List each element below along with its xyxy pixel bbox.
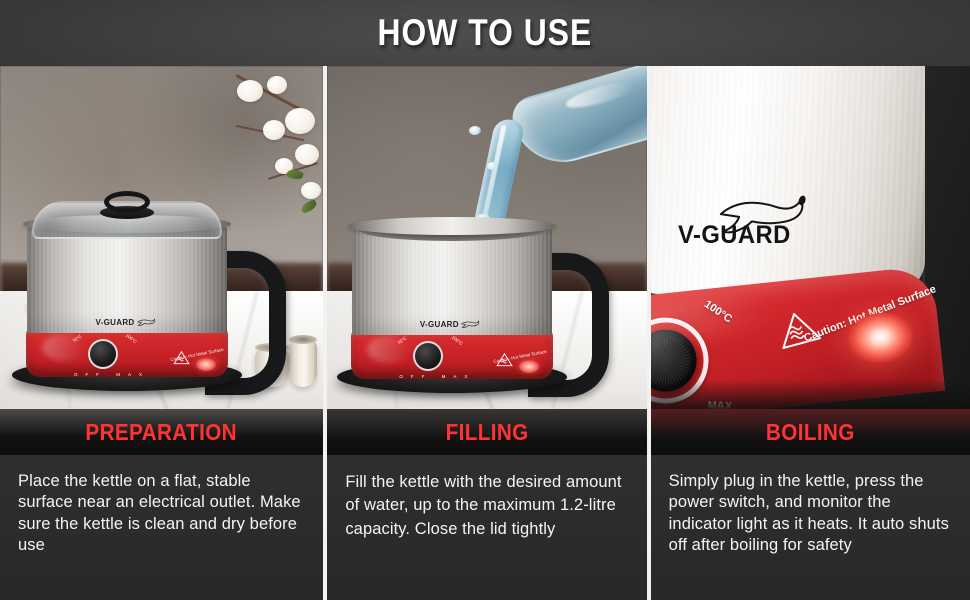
step-body-boiling: Simply plug in the kettle, press the pow… (651, 455, 970, 600)
how-to-use-infographic: HOW TO USE (0, 0, 970, 600)
temperature-knob[interactable]: 70°C 100°C OFF MAX (413, 341, 443, 371)
kettle-brand-logo: V-GUARD (420, 320, 483, 329)
step-card-boiling: 70°C 100°C OFF MAX (647, 66, 970, 600)
kettle-rim (348, 217, 556, 235)
step-title-bar-preparation: PREPARATION (0, 409, 323, 455)
knob-dial[interactable] (88, 339, 118, 369)
step-title: FILLING (445, 419, 528, 446)
control-panel-closeup: 70°C 100°C OFF MAX (651, 66, 970, 409)
step-body-text: Fill the kettle with the desired amount … (345, 471, 630, 541)
step-body-text: Place the kettle on a flat, stable surfa… (18, 471, 307, 557)
temperature-knob[interactable]: 70°C 100°C OFF MAX (88, 339, 118, 369)
knob-label-off-max: OFF MAX (399, 374, 475, 379)
lid-ring-handle-icon (104, 191, 150, 213)
steps-row: V-GUARD 70°C 100°C OFF MAX (0, 66, 970, 600)
kangaroo-logo-icon (717, 194, 827, 236)
kettle-brand-logo: V-GUARD (675, 194, 845, 252)
base-shadow (651, 379, 970, 409)
kettle-glass-lid (32, 193, 222, 239)
step-image-filling: V-GUARD 70°C 100°C OFF MAX (327, 66, 646, 409)
power-indicator-light-icon (196, 358, 216, 371)
page-title: HOW TO USE (378, 12, 593, 54)
step-title: PREPARATION (86, 419, 238, 446)
step-body-preparation: Place the kettle on a flat, stable surfa… (0, 455, 323, 600)
knob-label-off-max: OFF MAX (74, 372, 150, 377)
header-bar: HOW TO USE (0, 0, 970, 66)
kettle-steel-body (651, 66, 925, 294)
step-card-filling: V-GUARD 70°C 100°C OFF MAX (323, 66, 646, 600)
step-body-text: Simply plug in the kettle, press the pow… (669, 471, 954, 557)
kettle-steel-body (352, 227, 552, 335)
step-image-boiling: 70°C 100°C OFF MAX (651, 66, 970, 409)
step-body-filling: Fill the kettle with the desired amount … (327, 455, 646, 600)
electric-kettle-open: V-GUARD 70°C 100°C OFF MAX (351, 207, 551, 393)
electric-kettle: V-GUARD 70°C 100°C OFF MAX (26, 195, 228, 391)
kettle-steel-body (27, 225, 227, 333)
knob-dial[interactable] (413, 341, 443, 371)
step-image-preparation: V-GUARD 70°C 100°C OFF MAX (0, 66, 323, 409)
ceramic-mug-back (289, 339, 317, 387)
step-title-bar-filling: FILLING (327, 409, 646, 455)
kettle-brand-logo: V-GUARD (96, 318, 159, 327)
kangaroo-logo-icon (461, 320, 483, 329)
step-title: BOILING (766, 419, 855, 446)
step-card-preparation: V-GUARD 70°C 100°C OFF MAX (0, 66, 323, 600)
knob-label-100: 100°C (702, 298, 734, 325)
kangaroo-logo-icon (137, 318, 159, 327)
step-title-bar-boiling: BOILING (651, 409, 970, 455)
